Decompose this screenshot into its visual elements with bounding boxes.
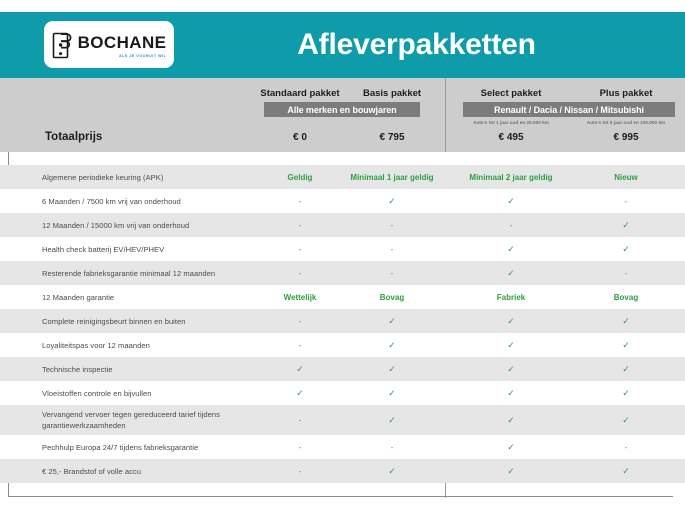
feature-label: Pechhulp Europa 24/7 tijdens fabrieksgar…	[42, 442, 242, 453]
table-row: € 25,- Brandstof of volle accu-✓✓✓	[0, 459, 685, 483]
table-rows-host: Algemene periodieke keuring (APK)GeldigM…	[0, 165, 685, 483]
not-included-dash: -	[344, 443, 440, 452]
feature-value: Wettelijk	[248, 293, 352, 302]
not-included-dash: -	[248, 416, 352, 425]
check-icon: ✓	[576, 415, 676, 426]
not-included-dash: -	[248, 269, 352, 278]
check-icon: ✓	[456, 388, 566, 399]
table-bottom-rule	[8, 496, 673, 497]
total-price-standaard: € 0	[248, 132, 352, 143]
not-included-dash: -	[576, 443, 676, 452]
not-included-dash: -	[344, 269, 440, 278]
table-row: Pechhulp Europa 24/7 tijdens fabrieksgar…	[0, 435, 685, 459]
check-icon: ✓	[576, 244, 676, 255]
table-row: Health check batterij EV/HEV/PHEV--✓✓	[0, 237, 685, 261]
table-row: Complete reinigingsbeurt binnen en buite…	[0, 309, 685, 333]
column-header-standaard: Standaard pakket	[248, 88, 352, 99]
check-icon: ✓	[456, 268, 566, 279]
check-icon: ✓	[456, 244, 566, 255]
check-icon: ✓	[576, 220, 676, 231]
feature-value: Nieuw	[576, 173, 676, 182]
column-header-basis: Basis pakket	[344, 88, 440, 99]
group-badge-brands: Renault / Dacia / Nissan / Mitsubishi	[463, 102, 675, 117]
not-included-dash: -	[248, 245, 352, 254]
total-price-label: Totaalprijs	[45, 131, 102, 143]
feature-label: Vervangend vervoer tegen gereduceerd tar…	[42, 409, 242, 431]
not-included-dash: -	[576, 269, 676, 278]
not-included-dash: -	[248, 467, 352, 476]
check-icon: ✓	[248, 388, 352, 399]
check-icon: ✓	[576, 340, 676, 351]
check-icon: ✓	[344, 466, 440, 477]
total-price-select: € 495	[456, 132, 566, 143]
not-included-dash: -	[248, 341, 352, 350]
feature-label: 12 Maanden / 15000 km vrij van onderhoud	[42, 220, 242, 231]
not-included-dash: -	[576, 197, 676, 206]
check-icon: ✓	[344, 196, 440, 207]
not-included-dash: -	[248, 197, 352, 206]
check-icon: ✓	[344, 388, 440, 399]
check-icon: ✓	[344, 364, 440, 375]
bochane-logo-mark-icon	[52, 32, 73, 59]
column-header-plus: Plus pakket	[576, 88, 676, 99]
feature-value: Bovag	[576, 293, 676, 302]
total-price-plus: € 995	[576, 132, 676, 143]
feature-label: Complete reinigingsbeurt binnen en buite…	[42, 316, 242, 327]
feature-value: Fabriek	[456, 293, 566, 302]
features-table: Algemene periodieke keuring (APK)GeldigM…	[0, 152, 685, 497]
check-icon: ✓	[344, 340, 440, 351]
feature-value: Minimaal 1 jaar geldig	[344, 173, 440, 182]
feature-value: Geldig	[248, 173, 352, 182]
check-icon: ✓	[576, 466, 676, 477]
check-icon: ✓	[456, 196, 566, 207]
feature-label: Technische inspectie	[42, 364, 242, 375]
bochane-logo: BOCHANE ALS JE VOORUIT WIL	[44, 21, 174, 68]
afleverpakketten-page: Afleverpakketten BOCHANE ALS JE VOORUIT …	[0, 0, 685, 514]
feature-label: € 25,- Brandstof of volle accu	[42, 466, 242, 477]
column-note-plus: Auto's tot 5 jaar oud en 100.000 km	[576, 120, 676, 125]
check-icon: ✓	[456, 466, 566, 477]
feature-label: Vloeistoffen controle en bijvullen	[42, 388, 242, 399]
group-badge-all-brands: Alle merken en bouwjaren	[264, 102, 420, 117]
header-banner: Afleverpakketten BOCHANE ALS JE VOORUIT …	[0, 12, 685, 78]
table-row: 6 Maanden / 7500 km vrij van onderhoud-✓…	[0, 189, 685, 213]
table-row: Technische inspectie✓✓✓✓	[0, 357, 685, 381]
feature-label: Health check batterij EV/HEV/PHEV	[42, 244, 242, 255]
table-row: Vervangend vervoer tegen gereduceerd tar…	[0, 405, 685, 435]
table-row: 12 Maanden / 15000 km vrij van onderhoud…	[0, 213, 685, 237]
check-icon: ✓	[576, 388, 676, 399]
not-included-dash: -	[456, 221, 566, 230]
check-icon: ✓	[456, 415, 566, 426]
feature-value: Bovag	[344, 293, 440, 302]
column-note-select: Auto's tot 1 jaar oud en 20.000 km	[456, 120, 566, 125]
feature-label: Loyaliteitspas voor 12 maanden	[42, 340, 242, 351]
total-price-basis: € 795	[344, 132, 440, 143]
check-icon: ✓	[576, 316, 676, 327]
check-icon: ✓	[456, 364, 566, 375]
logo-tagline: ALS JE VOORUIT WIL	[119, 54, 166, 58]
not-included-dash: -	[248, 443, 352, 452]
table-row: Algemene periodieke keuring (APK)GeldigM…	[0, 165, 685, 189]
check-icon: ✓	[344, 415, 440, 426]
table-top-spacer	[0, 152, 685, 165]
logo-wordmark: BOCHANE	[78, 34, 167, 51]
check-icon: ✓	[456, 316, 566, 327]
feature-label: 6 Maanden / 7500 km vrij van onderhoud	[42, 196, 242, 207]
check-icon: ✓	[456, 442, 566, 453]
table-row: Vloeistoffen controle en bijvullen✓✓✓✓	[0, 381, 685, 405]
not-included-dash: -	[344, 221, 440, 230]
not-included-dash: -	[248, 221, 352, 230]
feature-label: Resterende fabrieksgarantie minimaal 12 …	[42, 268, 242, 279]
not-included-dash: -	[248, 317, 352, 326]
not-included-dash: -	[344, 245, 440, 254]
check-icon: ✓	[248, 364, 352, 375]
feature-label: 12 Maanden garantie	[42, 292, 242, 303]
table-row: 12 Maanden garantieWettelijkBovagFabriek…	[0, 285, 685, 309]
feature-label: Algemene periodieke keuring (APK)	[42, 172, 242, 183]
check-icon: ✓	[344, 316, 440, 327]
feature-value: Minimaal 2 jaar geldig	[456, 173, 566, 182]
table-row: Loyaliteitspas voor 12 maanden-✓✓✓	[0, 333, 685, 357]
check-icon: ✓	[576, 364, 676, 375]
check-icon: ✓	[456, 340, 566, 351]
column-header-select: Select pakket	[456, 88, 566, 99]
table-row: Resterende fabrieksgarantie minimaal 12 …	[0, 261, 685, 285]
